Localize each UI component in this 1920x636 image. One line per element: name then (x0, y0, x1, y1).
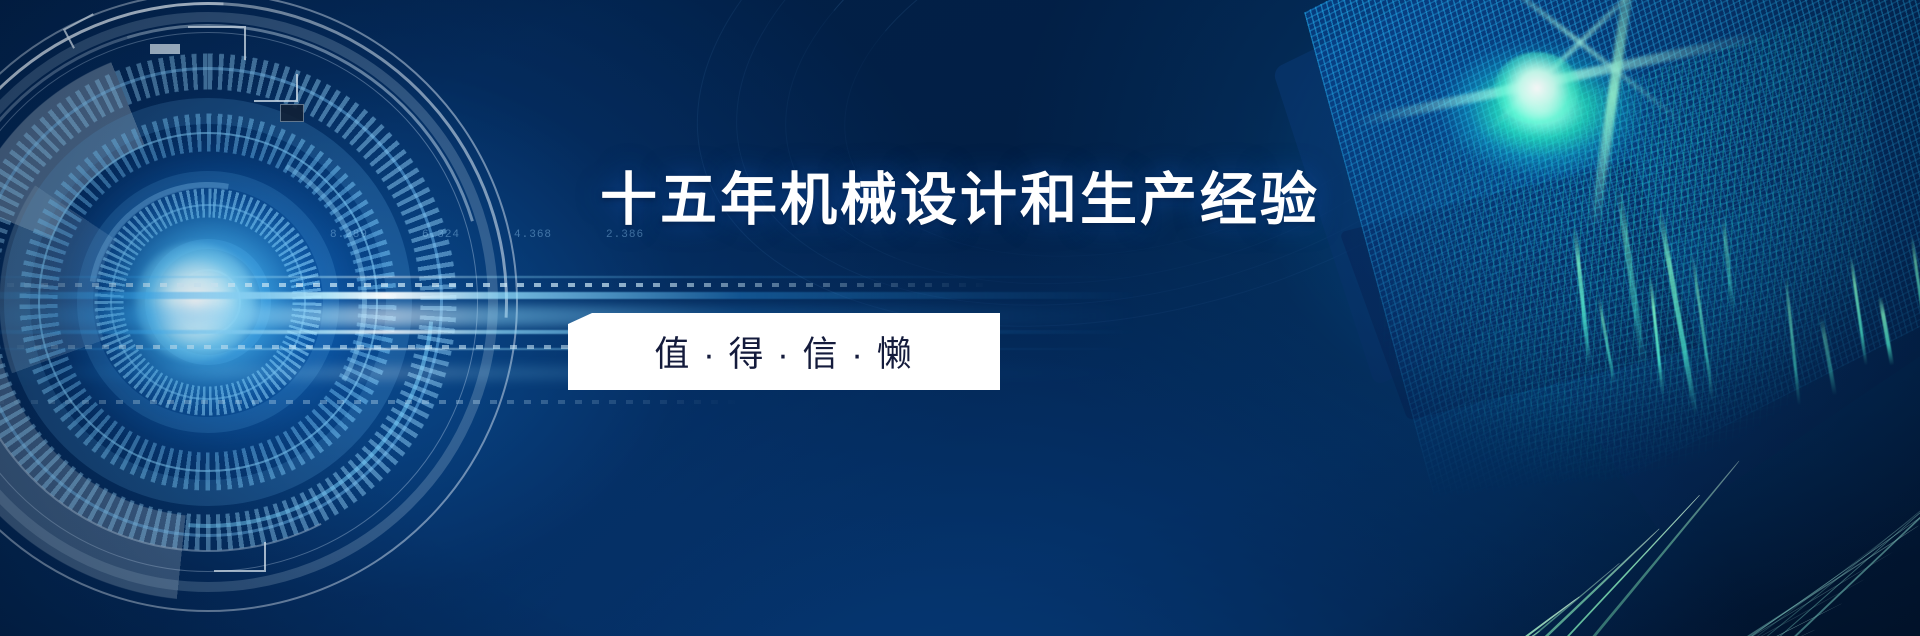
light-bar-8 (1819, 316, 1837, 395)
light-bar-7 (1849, 256, 1867, 365)
hud-readout-1: 6.324 (422, 229, 460, 241)
light-trail-6 (1060, 629, 1816, 636)
light-bar-0 (1721, 216, 1735, 312)
hud-notch-6 (214, 542, 266, 572)
light-trail-19 (1130, 563, 1620, 636)
hud-core-highlight (135, 242, 255, 362)
light-bar-5 (1597, 296, 1616, 385)
hud-marker-square (280, 104, 304, 122)
hud-notch-4 (254, 74, 298, 102)
light-trail-20 (1166, 528, 1660, 636)
hud-notch-3 (188, 26, 246, 60)
light-trail-10 (1130, 524, 1920, 636)
light-bar-11 (1878, 296, 1894, 366)
hud-readout-0: 8.289 (330, 229, 368, 241)
hud-marker-bar (150, 44, 180, 54)
light-trail-22 (1254, 460, 1740, 636)
banner-headline: 十五年机械设计和生产经验 (0, 172, 1920, 229)
light-trail-12 (1181, 473, 1920, 636)
light-trail-17 (1072, 631, 1540, 636)
subtitle-panel: 值 · 得 · 信 · 懒 (568, 313, 1000, 390)
tech-panel-right (1060, 0, 1920, 636)
light-trail-21 (1208, 495, 1700, 636)
light-trail-9 (1109, 551, 1894, 636)
light-trails-group (1060, 66, 1920, 636)
light-trail-15 (1272, 394, 1920, 636)
hud-readout-2: 4.368 (514, 229, 552, 241)
light-bar-6 (1573, 226, 1592, 366)
light-trail-11 (1155, 499, 1920, 636)
light-bar-9 (1784, 276, 1801, 406)
light-trail-18 (1098, 596, 1580, 636)
light-trail-8 (1089, 577, 1868, 636)
hero-banner: 8.289 6.324 4.368 2.386 十五年机械设计和生产经验 值 ·… (0, 0, 1920, 636)
hud-circle-graphic (0, 0, 528, 622)
light-bar-10 (1910, 236, 1920, 331)
light-trail-7 (1071, 603, 1842, 636)
subtitle-text: 值 · 得 · 信 · 懒 (654, 326, 913, 377)
light-bar-1 (1691, 253, 1715, 402)
light-bar-3 (1649, 276, 1665, 396)
